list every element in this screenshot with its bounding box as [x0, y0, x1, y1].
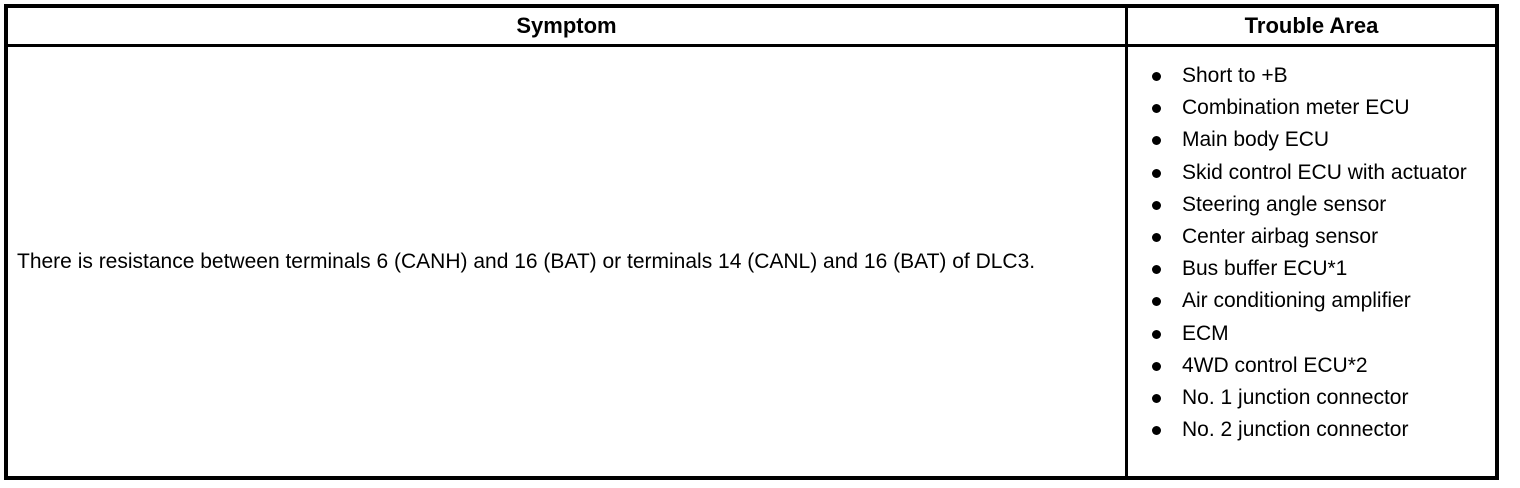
trouble-area-item: Air conditioning amplifier [1148, 285, 1487, 317]
bullet-icon [1152, 362, 1161, 371]
bullet-icon [1152, 104, 1161, 113]
trouble-area-item-label: Steering angle sensor [1182, 193, 1386, 216]
bullet-icon [1152, 297, 1161, 306]
trouble-area-item-label: Center airbag sensor [1182, 225, 1378, 248]
column-header-trouble-area: Trouble Area [1128, 8, 1495, 44]
cell-symptom: There is resistance between terminals 6 … [8, 47, 1125, 476]
symptom-text: There is resistance between terminals 6 … [17, 247, 1035, 277]
trouble-area-item-label: Short to +B [1182, 64, 1288, 87]
trouble-area-item: ECM [1148, 318, 1487, 350]
trouble-area-item: No. 1 junction connector [1148, 382, 1487, 414]
trouble-area-item-label: Skid control ECU with actuator [1182, 161, 1467, 184]
bullet-icon [1152, 426, 1161, 435]
table-header-row: Symptom Trouble Area [8, 8, 1495, 47]
trouble-area-item: Main body ECU [1148, 124, 1487, 156]
bullet-icon [1152, 394, 1161, 403]
trouble-area-list: Short to +BCombination meter ECUMain bod… [1148, 60, 1487, 446]
trouble-area-item-label: Main body ECU [1182, 128, 1329, 151]
trouble-area-item: Skid control ECU with actuator [1148, 157, 1487, 189]
trouble-area-item-label: No. 1 junction connector [1182, 386, 1408, 409]
table-body: There is resistance between terminals 6 … [8, 47, 1495, 476]
trouble-area-item-label: No. 2 junction connector [1182, 418, 1408, 441]
trouble-area-item-label: 4WD control ECU*2 [1182, 354, 1368, 377]
bullet-icon [1152, 330, 1161, 339]
column-header-symptom: Symptom [8, 8, 1125, 44]
table-inner: Symptom Trouble Area There is resistance… [8, 8, 1495, 476]
bullet-icon [1152, 201, 1161, 210]
bullet-icon [1152, 265, 1161, 274]
bullet-icon [1152, 233, 1161, 242]
trouble-area-item: Combination meter ECU [1148, 92, 1487, 124]
trouble-area-item-label: ECM [1182, 322, 1229, 345]
page-root: Symptom Trouble Area There is resistance… [0, 0, 1520, 488]
trouble-area-item: Steering angle sensor [1148, 189, 1487, 221]
trouble-area-item-label: Air conditioning amplifier [1182, 289, 1411, 312]
symptom-trouble-table: Symptom Trouble Area There is resistance… [4, 4, 1499, 480]
trouble-area-item: Short to +B [1148, 60, 1487, 92]
trouble-area-item-label: Bus buffer ECU*1 [1182, 257, 1347, 280]
cell-trouble-area: Short to +BCombination meter ECUMain bod… [1128, 47, 1495, 476]
bullet-icon [1152, 72, 1161, 81]
trouble-area-item: Center airbag sensor [1148, 221, 1487, 253]
trouble-area-item: Bus buffer ECU*1 [1148, 253, 1487, 285]
bullet-icon [1152, 136, 1161, 145]
bullet-icon [1152, 169, 1161, 178]
trouble-area-item: 4WD control ECU*2 [1148, 350, 1487, 382]
trouble-area-item: No. 2 junction connector [1148, 414, 1487, 446]
trouble-area-item-label: Combination meter ECU [1182, 96, 1410, 119]
